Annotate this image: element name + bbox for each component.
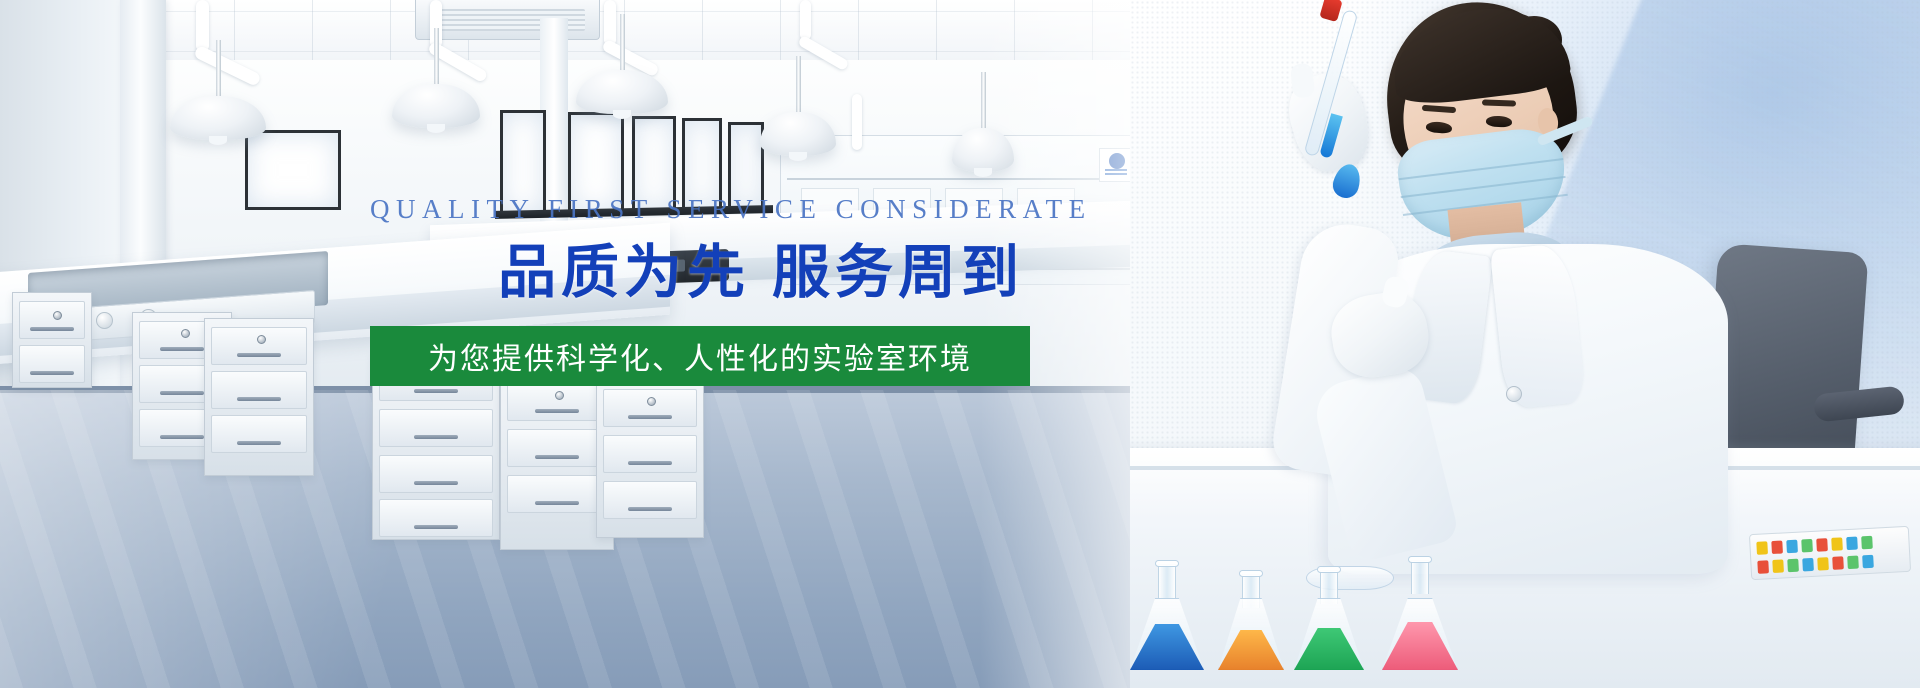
- lamp-rod: [796, 56, 801, 116]
- lamp-shade: [760, 112, 836, 156]
- lamp-rod: [434, 28, 439, 88]
- cabinet-drawer: [379, 409, 493, 447]
- erlenmeyer-flask-blue: [1130, 564, 1204, 670]
- cabinet-drawer: [507, 429, 607, 467]
- flask-rim: [1408, 556, 1432, 563]
- flask-neck: [1411, 560, 1429, 594]
- cabinet-lock-icon: [555, 391, 564, 400]
- subtitle-bar: 为您提供科学化、人性化的实验室环境: [370, 326, 1030, 386]
- storage-cabinet: [596, 378, 704, 538]
- cabinet-lock-icon: [53, 311, 62, 320]
- headline: 品质为先服务周到: [370, 241, 1030, 304]
- scientist-figure: [1300, 0, 1770, 554]
- extraction-arm-segment: [852, 94, 862, 150]
- pipette-red-cap: [1319, 0, 1342, 22]
- flask-rim: [1317, 566, 1341, 573]
- cabinet-drawer: [211, 415, 307, 453]
- hero-banner: QUALITY FIRST SERVICE CONSIDERATE 品质为先服务…: [0, 0, 1920, 688]
- subtitle-text: 为您提供科学化、人性化的实验室环境: [428, 334, 972, 378]
- lamp-shade: [170, 96, 266, 140]
- cabinet-drawer: [603, 435, 697, 473]
- cabinet-drawer: [19, 301, 85, 339]
- bench-valve-knob: [96, 312, 113, 329]
- cabinet-drawer: [507, 383, 607, 421]
- erlenmeyer-flask-pink: [1382, 560, 1458, 670]
- pendant-lamp: [760, 56, 836, 144]
- lamp-rod: [216, 40, 221, 100]
- banner-copy: QUALITY FIRST SERVICE CONSIDERATE 品质为先服务…: [370, 196, 1030, 386]
- lamp-shade: [576, 70, 668, 114]
- cabinet-drawer: [19, 345, 85, 383]
- test-tube-row: [1756, 536, 1873, 555]
- test-tube-rack: [1749, 526, 1911, 580]
- cabinet-drawer: [507, 475, 607, 513]
- headline-part-2: 服务周到: [772, 238, 1024, 306]
- lamp-shade: [392, 84, 480, 128]
- flask-rim: [1155, 560, 1179, 567]
- pendant-lamp: [576, 14, 668, 114]
- extraction-arm-segment: [800, 0, 811, 40]
- cabinet-drawer: [211, 371, 307, 409]
- cabinet-lock-icon: [257, 335, 266, 344]
- test-tube-row: [1757, 555, 1874, 574]
- scientist-with-pipette-photo: [1130, 0, 1920, 688]
- lamp-rod: [620, 14, 625, 74]
- eye: [1486, 115, 1513, 127]
- lab-coat-button: [1506, 386, 1522, 402]
- flask-rim: [1239, 570, 1263, 577]
- eyebrow: [1482, 99, 1516, 106]
- pendant-lamp: [170, 40, 266, 144]
- english-tagline: QUALITY FIRST SERVICE CONSIDERATE: [370, 196, 1030, 223]
- cabinet-drawer: [211, 327, 307, 365]
- cabinet-drawer: [603, 389, 697, 427]
- erlenmeyer-flask-green: [1294, 570, 1364, 670]
- cabinet-drawer: [603, 481, 697, 519]
- storage-cabinet: [12, 292, 92, 388]
- pendant-lamp: [392, 28, 480, 126]
- storage-cabinet: [204, 318, 314, 476]
- cabinet-drawer: [379, 499, 493, 537]
- mask-pleat: [1401, 176, 1566, 198]
- cabinet-drawer: [379, 455, 493, 493]
- headline-part-1: 品质为先: [498, 238, 750, 306]
- erlenmeyer-flask-orange: [1218, 574, 1284, 670]
- cabinet-lock-icon: [647, 397, 656, 406]
- flask-neck: [1158, 564, 1176, 598]
- cabinet-lock-icon: [181, 329, 190, 338]
- mask-pleat: [1398, 158, 1563, 180]
